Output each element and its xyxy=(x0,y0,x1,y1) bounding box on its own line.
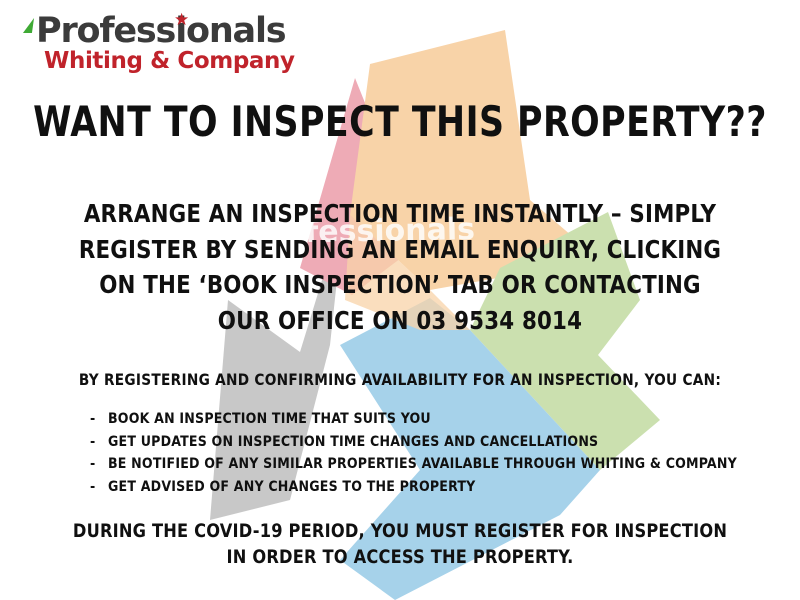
bullet-marker: - xyxy=(90,431,108,454)
list-item: -GET UPDATES ON INSPECTION TIME CHANGES … xyxy=(90,431,750,454)
bullet-marker: - xyxy=(90,453,108,476)
list-item-label: BE NOTIFIED OF ANY SIMILAR PROPERTIES AV… xyxy=(108,456,737,472)
list-item-label: GET UPDATES ON INSPECTION TIME CHANGES A… xyxy=(108,434,598,450)
list-item: -GET ADVISED OF ANY CHANGES TO THE PROPE… xyxy=(90,476,750,499)
benefits-list: -BOOK AN INSPECTION TIME THAT SUITS YOU … xyxy=(90,408,750,499)
list-item: -BOOK AN INSPECTION TIME THAT SUITS YOU xyxy=(90,408,750,431)
bullet-marker: - xyxy=(90,476,108,499)
bullet-marker: - xyxy=(90,408,108,431)
leaf-icon xyxy=(23,18,34,33)
inspection-poster: Professionals Professionals ★ Whiting & … xyxy=(0,0,800,600)
brand-logo: Professionals ★ Whiting & Company xyxy=(22,14,295,73)
page-title: WANT TO INSPECT THIS PROPERTY?? xyxy=(32,100,768,144)
list-item-label: BOOK AN INSPECTION TIME THAT SUITS YOU xyxy=(108,411,431,427)
list-item-label: GET ADVISED OF ANY CHANGES TO THE PROPER… xyxy=(108,479,475,495)
benefits-subheading: BY REGISTERING AND CONFIRMING AVAILABILI… xyxy=(58,370,742,389)
logo-office-name: Whiting & Company xyxy=(22,50,295,73)
star-icon: ★ xyxy=(174,12,188,29)
covid-notice: DURING THE COVID-19 PERIOD, YOU MUST REG… xyxy=(68,518,733,570)
logo-brand-text: Professionals xyxy=(36,11,285,51)
lead-paragraph: ARRANGE AN INSPECTION TIME INSTANTLY – S… xyxy=(77,196,723,338)
logo-brand-name: Professionals ★ xyxy=(22,14,295,49)
list-item: -BE NOTIFIED OF ANY SIMILAR PROPERTIES A… xyxy=(90,453,750,476)
